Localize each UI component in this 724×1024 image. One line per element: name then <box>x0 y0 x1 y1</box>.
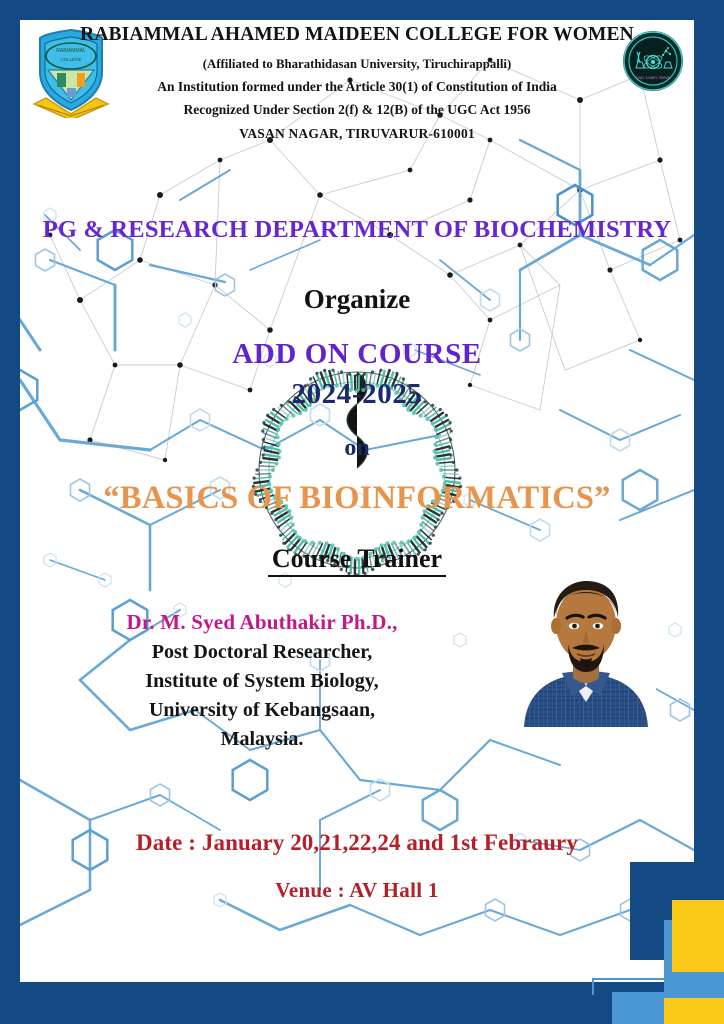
trainer-details: Dr. M. Syed Abuthakir Ph.D., Post Doctor… <box>42 610 482 751</box>
trainer-university: University of Kebangsaan, <box>42 699 482 722</box>
poster-frame: RABIAMMAL COLLEGE <box>0 0 724 1024</box>
deco-yellow-block-2 <box>664 998 724 1024</box>
course-trainer-heading-text: Course Trainer <box>268 544 446 577</box>
institution-line: An Institution formed under the Article … <box>20 79 694 95</box>
poster-header: RABIAMMAL AHAMED MAIDEEN COLLEGE FOR WOM… <box>20 24 694 142</box>
deco-blue-block-2 <box>612 992 674 1024</box>
recognition-line: Recognized Under Section 2(f) & 12(B) of… <box>20 102 694 118</box>
deco-outline-block <box>592 978 702 1024</box>
deco-navy-block-2 <box>578 995 622 1024</box>
event-date: Date : January 20,21,22,24 and 1st Febra… <box>20 830 694 856</box>
trainer-designation: Post Doctoral Researcher, <box>42 641 482 664</box>
event-venue: Venue : AV Hall 1 <box>20 878 694 903</box>
department-title: PG & RESEARCH DEPARTMENT OF BIOCHEMISTRY <box>20 216 694 244</box>
affiliation-line: (Affiliated to Bharathidasan University,… <box>20 57 694 72</box>
trainer-institute: Institute of System Biology, <box>42 670 482 693</box>
address-line: VASAN NAGAR, TIRUVARUR-610001 <box>20 126 694 142</box>
college-name: RABIAMMAL AHAMED MAIDEEN COLLEGE FOR WOM… <box>20 24 694 46</box>
course-title: “BASICS OF BIOINFORMATICS” <box>20 480 694 517</box>
on-label: on <box>20 435 694 462</box>
trainer-name: Dr. M. Syed Abuthakir Ph.D., <box>42 610 482 635</box>
academic-year: 2024-2025 <box>20 378 694 411</box>
trainer-portrait-photo <box>516 552 656 727</box>
organize-label: Organize <box>20 284 694 315</box>
trainer-country: Malaysia. <box>42 728 482 751</box>
course-type-label: ADD ON COURSE <box>20 338 694 371</box>
poster-page: RABIAMMAL COLLEGE <box>20 20 694 982</box>
